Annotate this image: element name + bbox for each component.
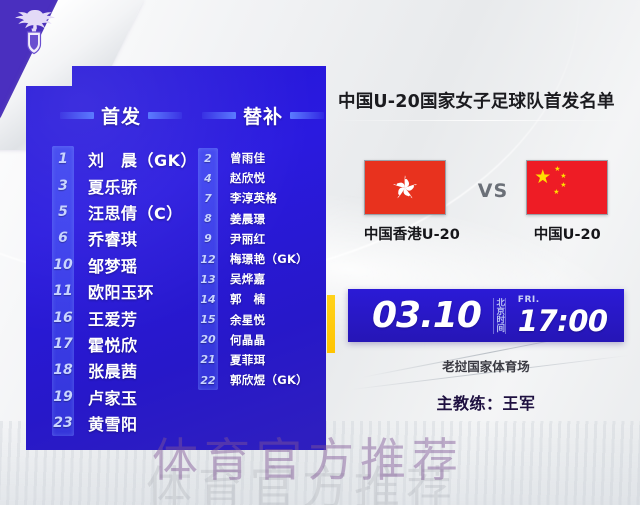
player-number: 9 [198, 232, 218, 245]
home-team: 中国香港U-20 [364, 160, 460, 244]
roster-row: 7李淳英格 [198, 188, 326, 208]
roster-row: 4赵欣悦 [198, 168, 326, 188]
player-number: 20 [198, 333, 218, 346]
player-name: 王爱芳 [88, 306, 138, 330]
eagle-crest-icon [10, 4, 58, 56]
match-date: 03.10 [372, 298, 481, 334]
player-number: 12 [198, 253, 218, 266]
flag-star-4: ★ [553, 189, 559, 196]
roster-row: 8姜晨璟 [198, 209, 326, 229]
hong-kong-flag-icon [364, 160, 446, 215]
poster-canvas: 首发 替补 1刘 晨（GK）3夏乐骄5汪思倩（C）6乔睿琪10邹梦瑶11欧阳玉环… [0, 0, 640, 505]
player-name: 刘 晨（GK） [88, 147, 197, 171]
page-title: 中国U-20国家女子足球队首发名单 [338, 88, 634, 113]
player-name: 欧阳玉环 [88, 279, 154, 303]
roster-row: 15余星悦 [198, 310, 326, 330]
player-name: 梅璟艳（GK） [230, 251, 308, 267]
player-name: 何晶晶 [230, 332, 265, 348]
player-name: 李淳英格 [230, 190, 277, 206]
roster-row: 5汪思倩（C） [52, 199, 202, 225]
roster-row: 18张晨茜 [52, 357, 202, 383]
player-number: 15 [198, 313, 218, 326]
player-number: 14 [198, 293, 218, 306]
roster-row: 14郭 楠 [198, 289, 326, 309]
player-name: 卢家玉 [88, 385, 138, 409]
substitutes-header-label: 替补 [243, 102, 283, 129]
player-number: 21 [198, 353, 218, 366]
roster-row: 20何晶晶 [198, 330, 326, 350]
player-number: 3 [52, 178, 74, 194]
player-name: 余星悦 [230, 312, 265, 328]
player-name: 邹梦瑶 [88, 253, 138, 277]
player-number: 13 [198, 273, 218, 286]
column-header-starters: 首发 [60, 102, 182, 129]
roster-row: 13吴烨嘉 [198, 269, 326, 289]
substitutes-list: 2曾雨佳4赵欣悦7李淳英格8姜晨璟9尹丽红12梅璟艳（GK）13吴烨嘉14郭 楠… [198, 148, 326, 390]
player-name: 吴烨嘉 [230, 271, 265, 287]
player-number: 23 [52, 415, 74, 431]
kickoff-time: 17:00 [518, 307, 608, 336]
player-name: 张晨茜 [88, 358, 138, 382]
player-number: 2 [198, 152, 218, 165]
roster-row: 2曾雨佳 [198, 148, 326, 168]
player-number: 11 [52, 283, 74, 299]
player-name: 霍悦欣 [88, 332, 138, 356]
yellow-accent-bar [327, 295, 335, 353]
roster-row: 3夏乐骄 [52, 172, 202, 198]
player-number: 7 [198, 192, 218, 205]
player-number: 22 [198, 374, 218, 387]
player-name: 尹丽红 [230, 231, 265, 247]
away-team-name: 中国U-20 [526, 223, 608, 244]
roster-row: 17霍悦欣 [52, 331, 202, 357]
header-bar-right [148, 112, 182, 119]
versus-label: VS [478, 180, 508, 202]
player-name: 郭欣煜（GK） [230, 372, 308, 388]
player-number: 16 [52, 310, 74, 326]
kickoff-block: FRI. 17:00 [518, 296, 608, 336]
flag-star-large: ★ [534, 168, 551, 187]
player-number: 6 [52, 230, 74, 246]
player-name: 夏菲珥 [230, 352, 265, 368]
roster-row: 22郭欣煜（GK） [198, 370, 326, 390]
player-number: 17 [52, 336, 74, 352]
watermark: 体育官方推荐 [152, 424, 464, 490]
away-team: ★ ★ ★ ★ ★ 中国U-20 [526, 160, 608, 244]
timezone-label: 北京时间 [493, 298, 506, 334]
column-header-substitutes: 替补 [202, 102, 324, 129]
player-number: 1 [52, 151, 74, 167]
player-number: 10 [52, 257, 74, 273]
roster-row: 6乔睿琪 [52, 225, 202, 251]
player-name: 汪思倩（C） [88, 200, 183, 224]
player-number: 8 [198, 212, 218, 225]
player-name: 赵欣悦 [230, 170, 265, 186]
player-name: 黄雪阳 [88, 411, 138, 435]
lineup-panel: 首发 替补 1刘 晨（GK）3夏乐骄5汪思倩（C）6乔睿琪10邹梦瑶11欧阳玉环… [26, 66, 326, 450]
roster-row: 9尹丽红 [198, 229, 326, 249]
roster-row: 19卢家玉 [52, 384, 202, 410]
player-name: 郭 楠 [230, 291, 265, 307]
header-bar-left [60, 112, 94, 119]
flag-star-3: ★ [560, 182, 566, 189]
player-number: 5 [52, 204, 74, 220]
roster-row: 16王爱芳 [52, 304, 202, 330]
background-streak-1 [330, 120, 630, 121]
starters-list: 1刘 晨（GK）3夏乐骄5汪思倩（C）6乔睿琪10邹梦瑶11欧阳玉环16王爱芳1… [52, 146, 202, 436]
venue-label: 老挝国家体育场 [348, 356, 624, 375]
coach-label: 主教练：王军 [348, 390, 624, 414]
roster-row: 1刘 晨（GK） [52, 146, 202, 172]
schedule-banner: 03.10 北京时间 FRI. 17:00 [348, 289, 624, 342]
player-name: 夏乐骄 [88, 174, 138, 198]
match-matchup: 中国香港U-20 VS ★ ★ ★ ★ ★ 中国U-20 [338, 160, 634, 244]
starters-header-label: 首发 [101, 102, 141, 129]
player-name: 姜晨璟 [230, 211, 265, 227]
player-name: 乔睿琪 [88, 226, 138, 250]
roster-row: 11欧阳玉环 [52, 278, 202, 304]
player-number: 19 [52, 389, 74, 405]
roster-row: 10邹梦瑶 [52, 252, 202, 278]
player-number: 4 [198, 172, 218, 185]
header-bar-left [202, 112, 236, 119]
player-number: 18 [52, 362, 74, 378]
home-team-name: 中国香港U-20 [364, 223, 460, 244]
flag-star-2: ★ [560, 173, 566, 180]
roster-row: 12梅璟艳（GK） [198, 249, 326, 269]
header-bar-right [290, 112, 324, 119]
player-name: 曾雨佳 [230, 150, 265, 166]
china-flag-icon: ★ ★ ★ ★ ★ [526, 160, 608, 215]
roster-row: 21夏菲珥 [198, 350, 326, 370]
